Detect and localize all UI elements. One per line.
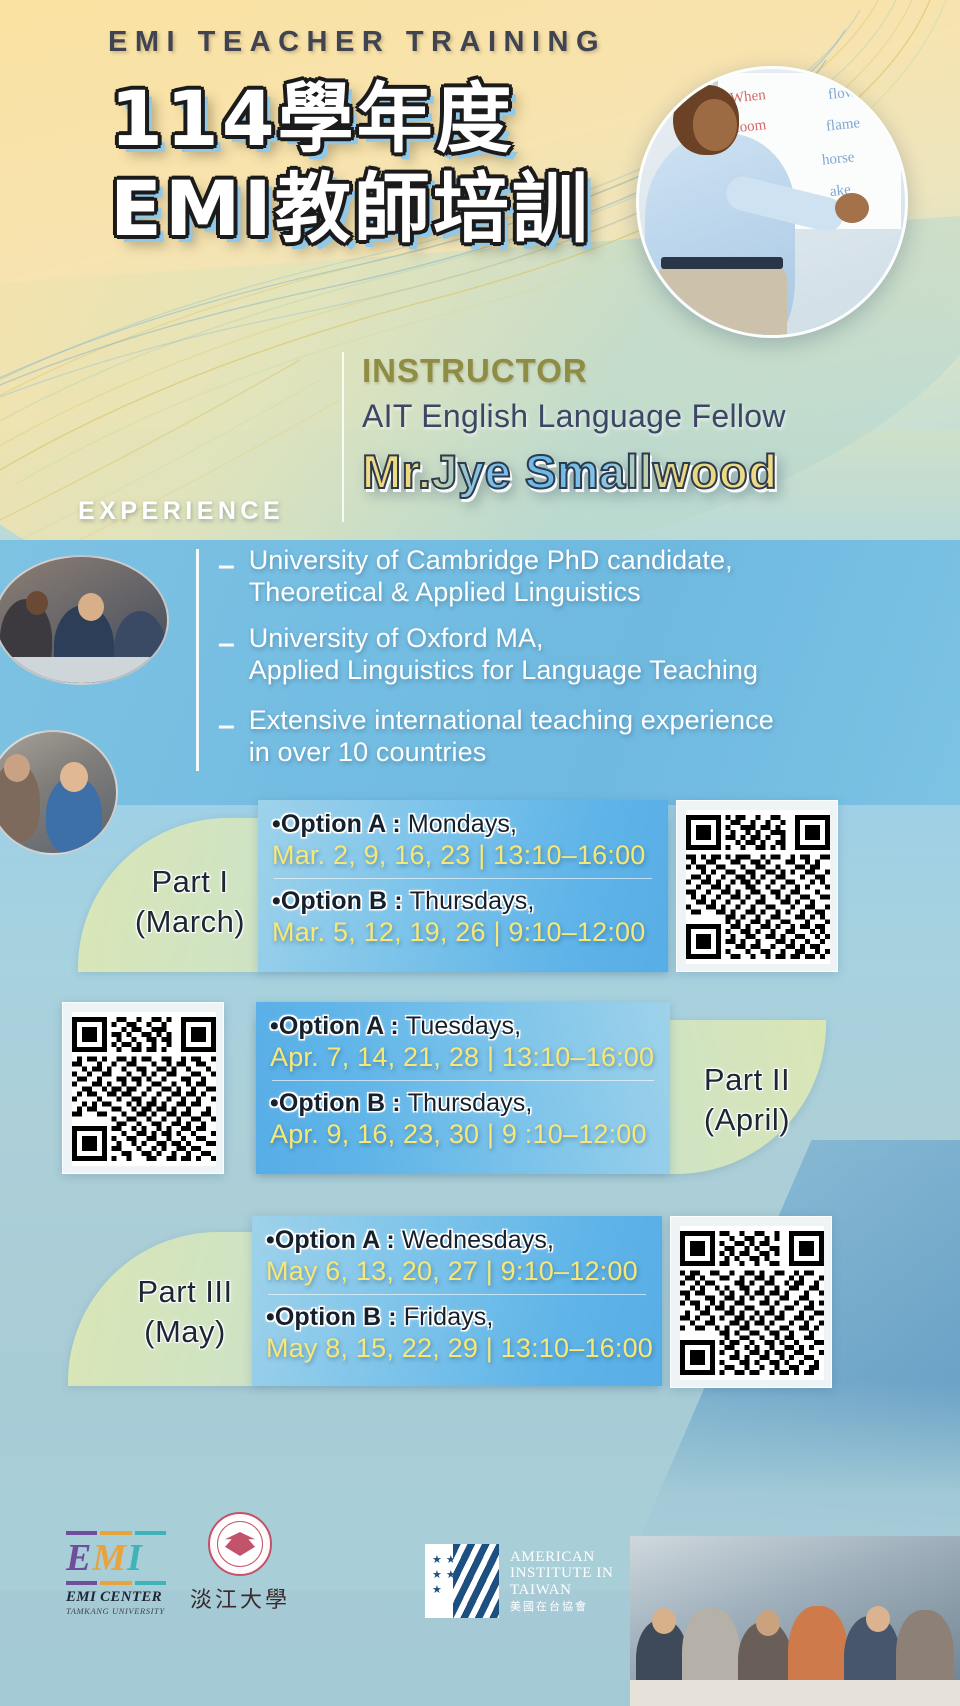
option-b-heading: •Option B : Fridays, [266,1303,648,1332]
option-a-dates: Mar. 2, 9, 16, 23 [272,840,471,870]
option-a-heading: •Option A : Tuesdays, [270,1012,656,1041]
tku-eagle-icon [225,1532,255,1556]
part-3-option-a: •Option A : Wednesdays, May 6, 13, 20, 2… [266,1226,648,1287]
ait-stripes-icon [453,1544,499,1618]
option-a-time: 9:10–12:00 [501,1256,638,1286]
poster-title-line1: 114學年度 [110,74,515,163]
option-a-divider: | [487,1042,494,1072]
instructor-role: AIT English Language Fellow [362,398,786,435]
option-b-label: Option B [275,1303,381,1331]
person-belt [661,257,783,269]
poster-eyebrow: EMI TEACHER TRAINING [108,26,606,59]
ait-text-block: AMERICAN INSTITUTE IN TAIWAN 美國在台協會 [510,1549,613,1614]
option-b-sep: : [392,1089,400,1117]
instructor-divider [342,352,344,522]
emi-logo-bottom-bars [66,1581,166,1585]
option-a-sep: : [390,1012,398,1040]
part-2-month: (April) [704,1102,790,1137]
ait-logo: ★★★★★★ AMERICAN INSTITUTE IN TAIWAN 美國在台… [425,1544,613,1618]
option-b-heading: •Option B : Thursdays, [272,887,654,916]
option-a-day: Mondays, [408,810,517,838]
qr-code-part-2[interactable] [62,1002,224,1174]
poster-title: 114學年度 EMI教師培訓 [110,78,591,250]
part-2-option-b: •Option B : Thursdays, Apr. 9, 16, 23, 3… [270,1089,656,1150]
poster-title-line2: EMI教師培訓 [110,168,591,250]
option-b-day: Thursdays, [408,1089,533,1117]
part-2-options: •Option A : Tuesdays, Apr. 7, 14, 21, 28… [256,1002,670,1174]
option-a-dates: Apr. 7, 14, 21, 28 [270,1042,479,1072]
experience-item-text: University of Cambridge PhD candidate, T… [249,545,733,608]
part-1-options: •Option A : Mondays, Mar. 2, 9, 16, 23 |… [258,800,668,972]
option-a-datetime: May 6, 13, 20, 27 | 9:10–12:00 [266,1256,648,1287]
part-1-option-a: •Option A : Mondays, Mar. 2, 9, 16, 23 |… [272,810,654,871]
emi-logo-wordmark: EMI [66,1539,166,1577]
footer-classroom-photo [630,1536,960,1706]
part-2-label: Part II (April) [672,1060,822,1139]
option-a-dates: May 6, 13, 20, 27 [266,1256,478,1286]
emi-logo-top-bars [66,1531,166,1535]
experience-item-text: Extensive international teaching experie… [249,705,774,768]
option-b-divider: | [493,917,500,947]
ait-line-1: AMERICAN [510,1549,613,1566]
option-b-label: Option B [279,1089,385,1117]
part-1-month: (March) [135,904,245,939]
option-b-label: Option B [281,887,387,915]
ait-chinese-name: 美國在台協會 [510,1601,613,1613]
part-2-title: Part II [704,1062,790,1097]
part-1-title: Part I [151,864,228,899]
option-a-sep: : [386,1226,394,1254]
experience-list: – University of Cambridge PhD candidate,… [196,545,856,785]
emi-letter-m: M [92,1537,127,1579]
experience-item: – University of Oxford MA, Applied Lingu… [218,623,758,686]
part-2-option-a: •Option A : Tuesdays, Apr. 7, 14, 21, 28… [270,1012,656,1073]
option-a-label: Option A [281,810,385,838]
part-1-option-b: •Option B : Thursdays, Mar. 5, 12, 19, 2… [272,887,654,948]
instructor-photo: When flower bloom flame or t horse out a… [636,66,908,338]
option-b-dates: Apr. 9, 16, 23, 30 [270,1119,479,1149]
tku-name-text: 淡江大學 [185,1582,295,1614]
option-a-label: Option A [275,1226,379,1254]
option-b-time: 9:10–12:00 [508,917,645,947]
option-divider [268,1294,646,1295]
option-b-day: Fridays, [404,1303,494,1331]
ait-mark-icon: ★★★★★★ [425,1544,499,1618]
poster-root: EMI TEACHER TRAINING 114學年度 EMI教師培訓 When… [0,0,960,1706]
option-b-datetime: Mar. 5, 12, 19, 26 | 9:10–12:00 [272,917,654,948]
option-b-sep: : [388,1303,396,1331]
tamkang-university-logo: 淡江大學 [185,1512,295,1614]
qr-code-part-2-image [72,1012,216,1166]
option-a-divider: | [478,840,485,870]
experience-label: EXPERIENCE [78,497,284,526]
option-a-divider: | [486,1256,493,1286]
qr-code-part-1[interactable] [676,800,838,972]
option-a-datetime: Mar. 2, 9, 16, 23 | 13:10–16:00 [272,840,654,871]
instructor-name: Mr.Jye Smallwood [362,444,777,499]
dash-icon: – [218,629,235,686]
part-3-title: Part III [137,1274,232,1309]
dash-icon: – [218,711,235,768]
option-b-divider: | [486,1333,493,1363]
part-3-month: (May) [144,1314,226,1349]
option-b-day: Thursdays, [410,887,535,915]
dash-icon: – [218,551,235,608]
option-a-heading: •Option A : Mondays, [272,810,654,839]
option-b-divider: | [487,1119,494,1149]
option-b-datetime: Apr. 9, 16, 23, 30 | 9 :10–12:00 [270,1119,656,1150]
qr-code-part-3[interactable] [670,1216,832,1388]
person-face [693,99,737,151]
part-3-option-b: •Option B : Fridays, May 8, 15, 22, 29 |… [266,1303,648,1364]
part-3-label: Part III (May) [100,1272,270,1351]
experience-item: – University of Cambridge PhD candidate,… [218,545,733,608]
option-a-sep: : [392,810,400,838]
person-hand [835,193,869,223]
qr-code-part-1-image [686,810,830,964]
part-1-label: Part I (March) [110,862,270,941]
option-b-sep: : [394,887,402,915]
option-divider [272,1080,654,1081]
option-b-dates: Mar. 5, 12, 19, 26 [272,917,486,947]
ait-line-3: TAIWAN [510,1582,613,1599]
option-b-dates: May 8, 15, 22, 29 [266,1333,478,1363]
person-trousers [657,265,787,338]
emi-center-logo: EMI EMI CENTER TAMKANG UNIVERSITY [66,1527,166,1616]
experience-item-text: University of Oxford MA, Applied Linguis… [249,623,758,686]
experience-item: – Extensive international teaching exper… [218,705,774,768]
option-b-time: 13:10–16:00 [501,1333,653,1363]
emi-center-text: EMI CENTER [66,1589,166,1606]
option-a-label: Option A [279,1012,383,1040]
instructor-label: INSTRUCTOR [362,352,588,390]
part-3-options: •Option A : Wednesdays, May 6, 13, 20, 2… [252,1216,662,1386]
option-b-time: 9 :10–12:00 [502,1119,647,1149]
option-b-datetime: May 8, 15, 22, 29 | 13:10–16:00 [266,1333,648,1364]
option-a-datetime: Apr. 7, 14, 21, 28 | 13:10–16:00 [270,1042,656,1073]
option-b-heading: •Option B : Thursdays, [270,1089,656,1118]
qr-code-part-3-image [680,1226,824,1380]
tku-seal-icon [208,1512,272,1576]
option-divider [274,878,652,879]
option-a-time: 13:10–16:00 [493,840,645,870]
emi-letter-e: E [66,1537,92,1579]
option-a-heading: •Option A : Wednesdays, [266,1226,648,1255]
emi-letter-i: I [127,1537,143,1579]
emi-center-subtext: TAMKANG UNIVERSITY [66,1606,166,1616]
option-a-time: 13:10–16:00 [502,1042,654,1072]
experience-photo-students [0,555,169,685]
option-a-day: Tuesdays, [406,1012,521,1040]
ait-line-2: INSTITUTE IN [510,1565,613,1582]
experience-vertical-rule [196,549,199,771]
option-a-day: Wednesdays, [402,1226,554,1254]
